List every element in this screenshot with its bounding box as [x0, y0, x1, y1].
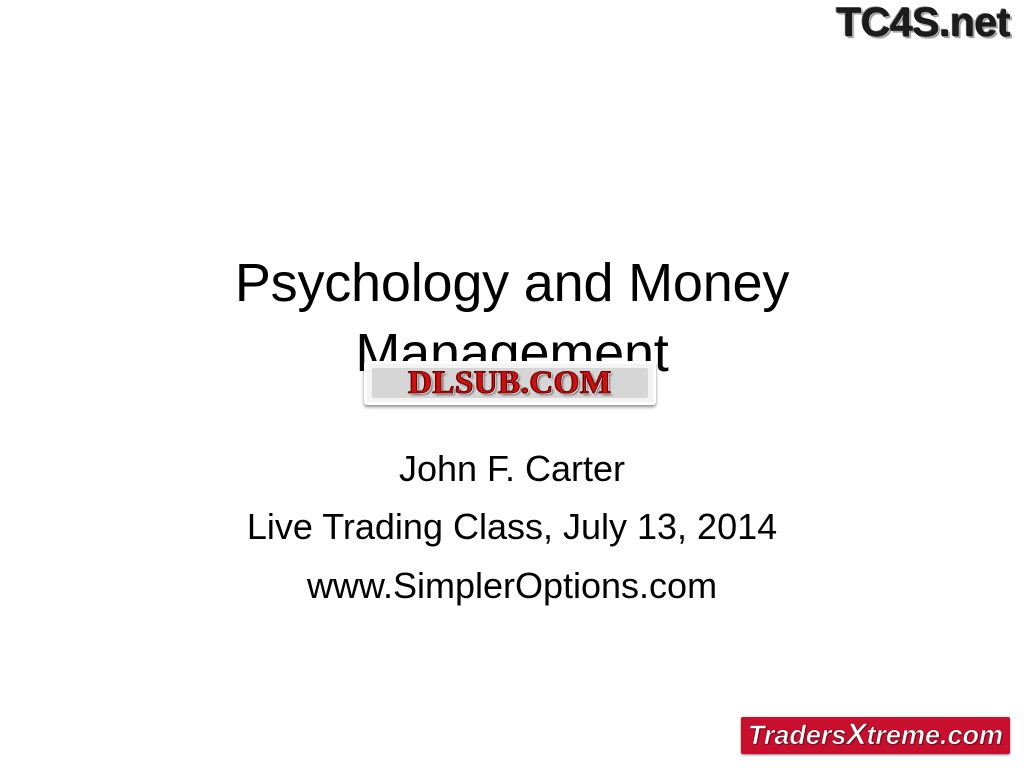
subtitle-line-author: John F. Carter — [0, 440, 1024, 498]
tradersxtreme-prefix: Traders — [748, 720, 847, 750]
dlsub-watermark: DLSUB.COM — [364, 361, 656, 405]
stamp-label: DLSUB.COM — [364, 361, 656, 405]
slide-canvas: { "slide": { "title": "Psychology and Mo… — [0, 0, 1024, 768]
slide-subtitle: John F. Carter Live Trading Class, July … — [0, 440, 1024, 615]
tradersxtreme-accent: X — [846, 718, 866, 751]
tradersxtreme-suffix: treme.com — [866, 720, 1003, 750]
subtitle-line-website: www.SimplerOptions.com — [0, 557, 1024, 615]
tc4s-watermark: TC4S.net — [836, 2, 1010, 43]
subtitle-line-class-date: Live Trading Class, July 13, 2014 — [0, 498, 1024, 556]
tradersxtreme-watermark: TradersXtreme.com — [741, 717, 1010, 754]
